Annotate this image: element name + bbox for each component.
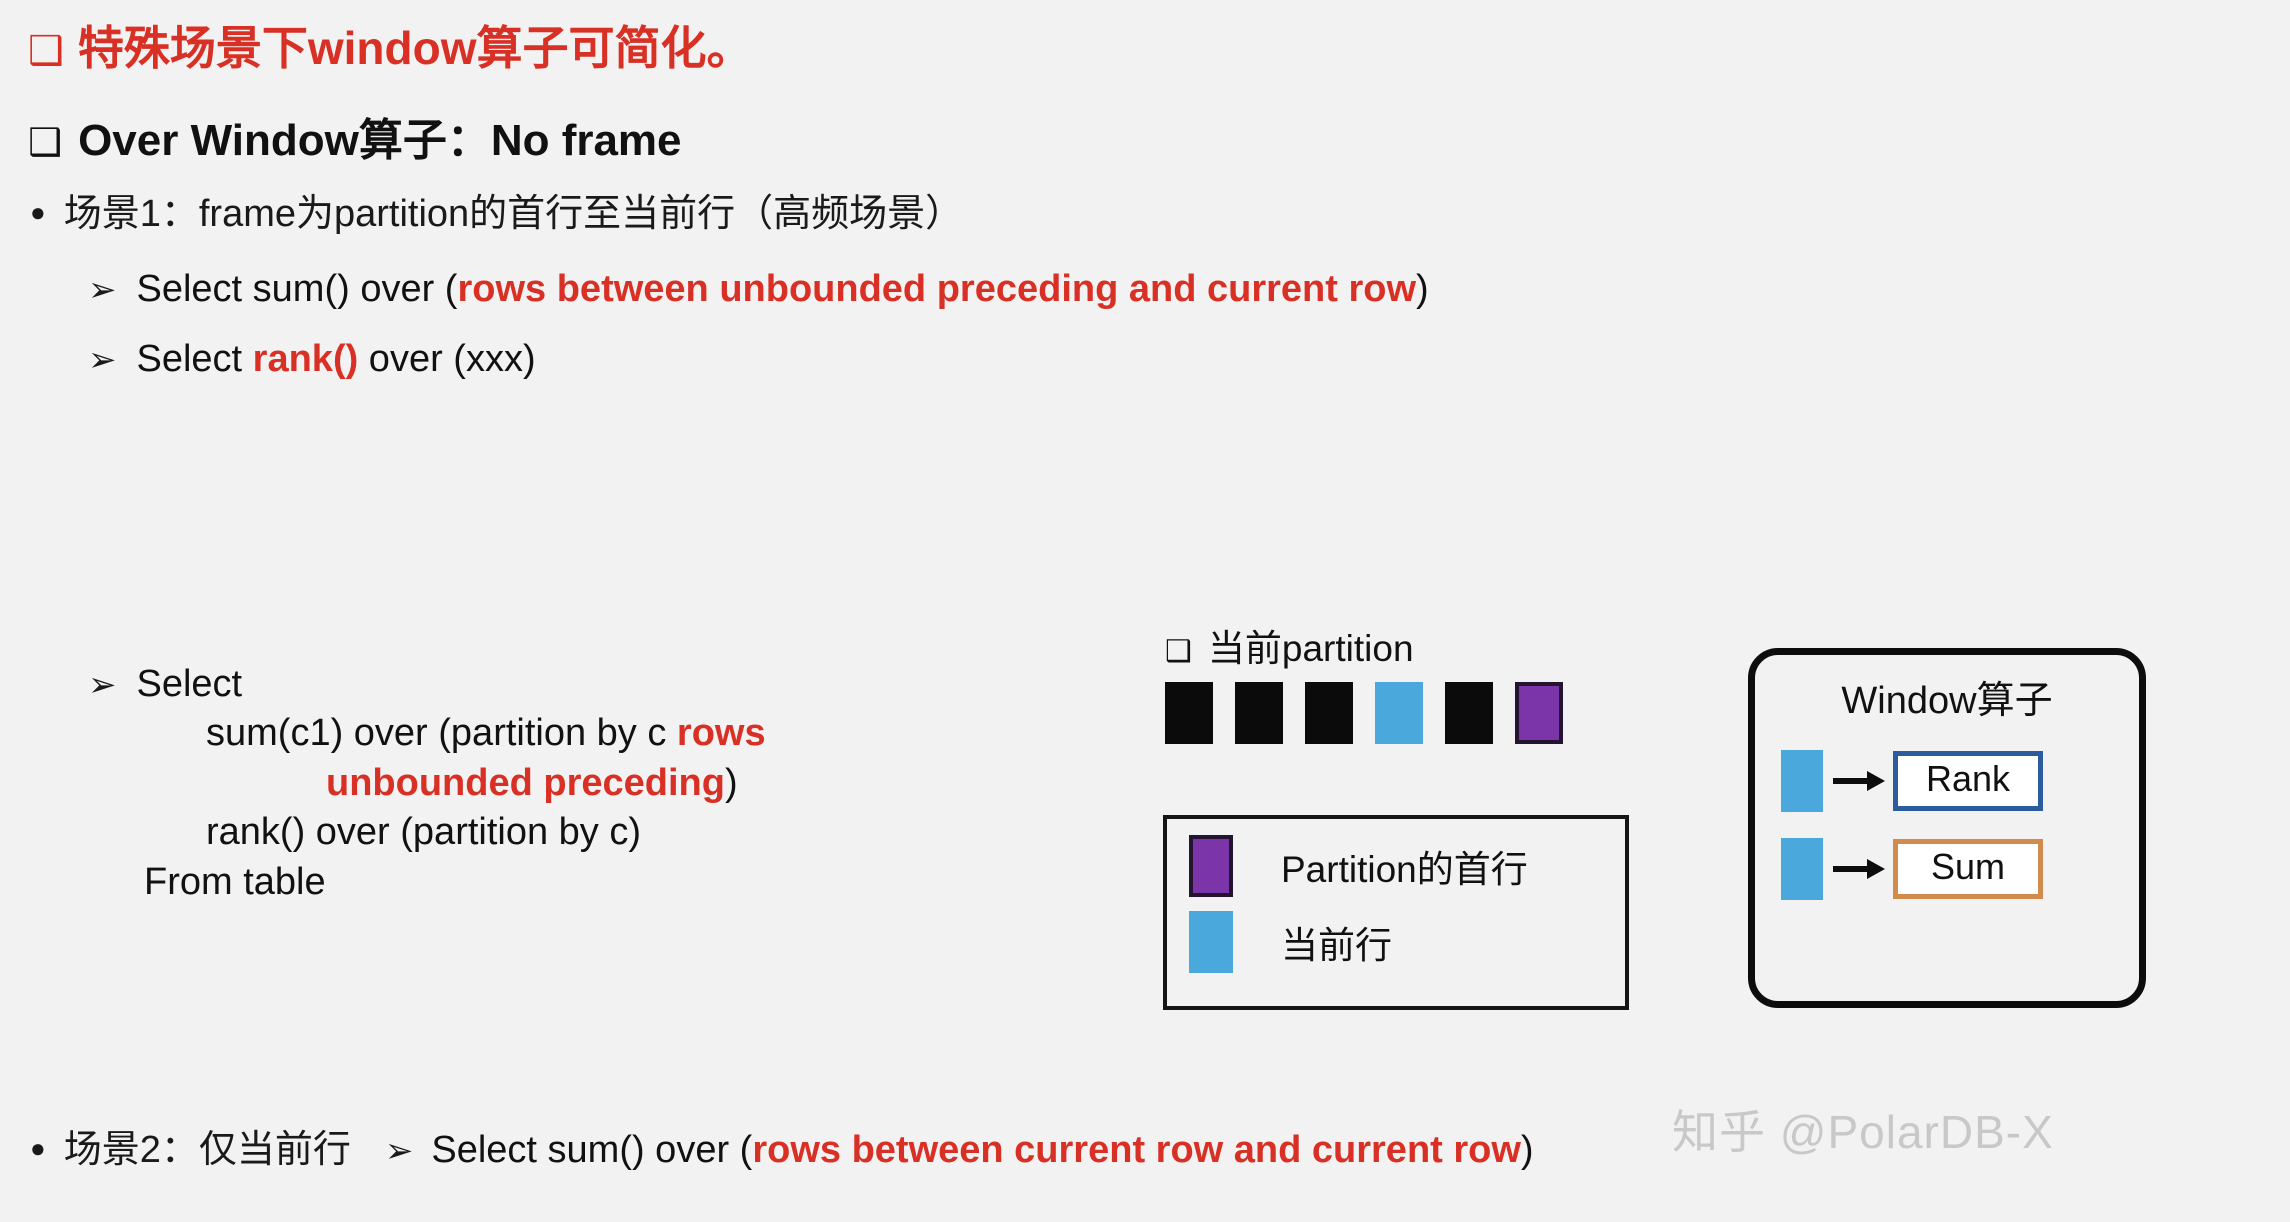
select-line-3: unbounded preceding) bbox=[88, 759, 766, 808]
window-operator-rank: Rank bbox=[1893, 751, 2043, 811]
square-bullet-icon: ❑ bbox=[28, 122, 62, 164]
sql-suffix: ) bbox=[1416, 268, 1429, 310]
legend-row-first-row: Partition的首行 bbox=[1189, 835, 1625, 897]
window-input-cell-blue bbox=[1781, 750, 1823, 812]
sql-highlight: rank() bbox=[253, 338, 359, 380]
select-line-5: From table bbox=[88, 858, 766, 907]
dot-bullet-icon: ● bbox=[30, 197, 46, 227]
scenario1-item-1: ➢Select sum() over (rows between unbound… bbox=[88, 268, 1429, 311]
square-bullet-icon: ❑ bbox=[1165, 635, 1192, 668]
window-operator-title: Window算子 bbox=[1755, 669, 2139, 724]
arrow-bullet-icon: ➢ bbox=[88, 340, 117, 380]
sql-suffix: over (xxx) bbox=[358, 338, 535, 380]
arrow-bullet-icon: ➢ bbox=[88, 665, 117, 705]
select-line-4: rank() over (partition by c) bbox=[88, 808, 766, 857]
window-operator-row-rank: Rank bbox=[1755, 750, 2139, 812]
arrow-right-icon bbox=[1829, 768, 1887, 794]
window-operator-row-sum: Sum bbox=[1755, 838, 2139, 900]
partition-cell-black bbox=[1305, 682, 1353, 744]
legend-swatch-purple bbox=[1189, 835, 1233, 897]
sql-prefix: Select sum() over ( bbox=[137, 268, 458, 310]
partition-cell-black bbox=[1165, 682, 1213, 744]
window-input-cell-blue bbox=[1781, 838, 1823, 900]
partition-diagram: ❑当前partition bbox=[1165, 618, 1563, 744]
scenario2-row: ●场景2：仅当前行➢Select sum() over (rows betwee… bbox=[30, 1118, 1534, 1173]
legend-label-first-row: Partition的首行 bbox=[1281, 839, 1528, 893]
arrow-bullet-icon: ➢ bbox=[385, 1131, 414, 1171]
sql-suffix: ) bbox=[1521, 1129, 1534, 1171]
arrow-right-icon bbox=[1829, 856, 1887, 882]
dot-bullet-icon: ● bbox=[30, 1133, 46, 1163]
sql-highlight: unbounded preceding bbox=[326, 762, 725, 804]
sql-prefix: sum(c1) over (partition by c bbox=[206, 712, 677, 754]
sql-text: From table bbox=[144, 861, 326, 903]
scenario1-label-row: ●场景1：frame为partition的首行至当前行（高频场景） bbox=[30, 182, 963, 237]
slide-subtitle-text: Over Window算子：No frame bbox=[78, 116, 681, 165]
sql-prefix: Select sum() over ( bbox=[431, 1129, 752, 1171]
sql-highlight: rows between current row and current row bbox=[752, 1129, 1521, 1171]
arrow-bullet-icon: ➢ bbox=[88, 270, 117, 310]
sql-highlight: rows between unbounded preceding and cur… bbox=[457, 268, 1416, 310]
slide-title-red: ❑特殊场景下window算子可简化。 bbox=[28, 12, 753, 78]
slide-title-red-text: 特殊场景下window算子可简化。 bbox=[78, 22, 753, 74]
sql-suffix: ) bbox=[725, 762, 738, 804]
partition-diagram-header: ❑当前partition bbox=[1165, 618, 1563, 672]
scenario1-select-block: ➢Select sum(c1) over (partition by c row… bbox=[88, 660, 766, 907]
partition-cell-current-row bbox=[1375, 682, 1423, 744]
window-operator-box: Window算子 Rank Sum bbox=[1748, 648, 2146, 1008]
scenario1-label: 场景1：frame为partition的首行至当前行（高频场景） bbox=[64, 193, 963, 235]
partition-row-cells bbox=[1165, 682, 1563, 744]
partition-cell-black bbox=[1445, 682, 1493, 744]
slide-subtitle: ❑Over Window算子：No frame bbox=[28, 104, 682, 168]
sql-highlight: rows bbox=[677, 712, 766, 754]
scenario2-label: 场景2：仅当前行 bbox=[64, 1129, 351, 1171]
sql-text: rank() over (partition by c) bbox=[206, 811, 641, 853]
legend-swatch-blue bbox=[1189, 911, 1233, 973]
watermark: 知乎 @PolarDB-X bbox=[1672, 1096, 2054, 1162]
partition-diagram-header-text: 当前partition bbox=[1208, 628, 1414, 669]
legend-label-current-row: 当前行 bbox=[1281, 915, 1392, 969]
scenario1-item-2: ➢Select rank() over (xxx) bbox=[88, 338, 536, 381]
sql-prefix: Select bbox=[137, 338, 253, 380]
square-bullet-icon: ❑ bbox=[28, 29, 64, 73]
partition-cell-first-row bbox=[1515, 682, 1563, 744]
legend-row-current-row: 当前行 bbox=[1189, 911, 1625, 973]
legend-box: Partition的首行 当前行 bbox=[1163, 815, 1629, 1010]
slide-canvas: ❑特殊场景下window算子可简化。 ❑Over Window算子：No fra… bbox=[0, 0, 2290, 1222]
select-keyword: Select bbox=[137, 663, 243, 705]
window-operator-sum: Sum bbox=[1893, 839, 2043, 899]
select-line-2: sum(c1) over (partition by c rows bbox=[88, 709, 766, 758]
partition-cell-black bbox=[1235, 682, 1283, 744]
select-line-1: ➢Select bbox=[88, 660, 766, 709]
